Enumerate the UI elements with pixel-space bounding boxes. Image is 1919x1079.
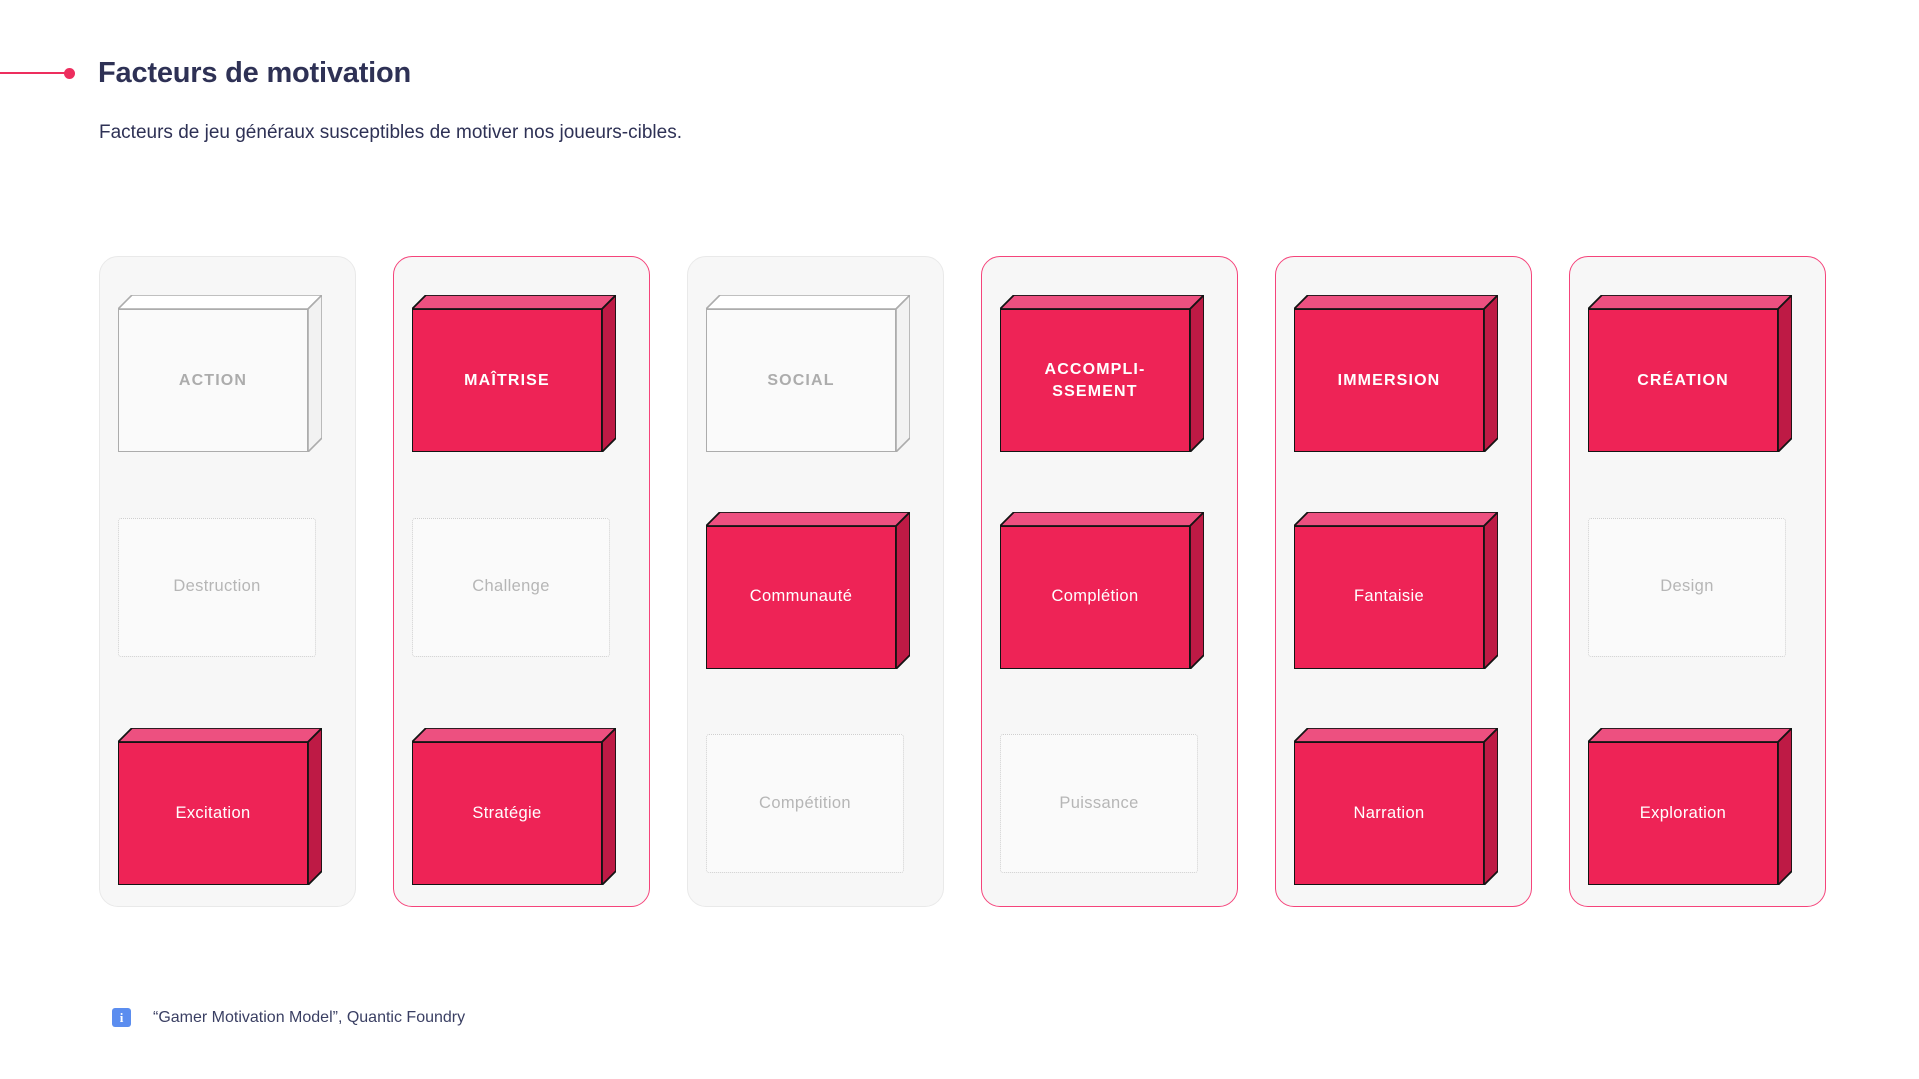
active-3d-box[interactable]: Exploration — [1588, 728, 1794, 885]
active-3d-box[interactable]: Stratégie — [412, 728, 618, 885]
box-front-face: Complétion — [1000, 526, 1190, 669]
motivation-slot-creation-2[interactable]: Exploration — [1588, 714, 1807, 882]
source-credit: i “Gamer Motivation Model”, Quantic Foun… — [112, 1008, 465, 1027]
active-3d-box[interactable]: IMMERSION — [1294, 295, 1500, 452]
box-front-face: ACCOMPLI-SSEMENT — [1000, 309, 1190, 452]
active-3d-box[interactable]: CRÉATION — [1588, 295, 1794, 452]
motivation-slot-maitrise-2[interactable]: Stratégie — [412, 714, 631, 882]
slot-label: Challenge — [466, 576, 555, 598]
slot-label: Puissance — [1053, 793, 1144, 815]
motivation-column-immersion[interactable]: IMMERSION Fantaisie Narration — [1275, 256, 1532, 907]
motivation-column-social[interactable]: SOCIAL CommunautéCompétition — [687, 256, 944, 907]
motivation-slot-accomplissement-1[interactable]: Complétion — [1000, 498, 1219, 666]
motivation-slot-action-0[interactable]: ACTION — [118, 281, 337, 449]
motivation-slot-social-1[interactable]: Communauté — [706, 498, 925, 666]
active-3d-box[interactable]: Communauté — [706, 512, 912, 669]
slot-label: Destruction — [167, 576, 266, 598]
slot-label: Complétion — [1046, 586, 1145, 608]
inactive-placeholder-box[interactable]: Puissance — [1000, 734, 1198, 873]
inactive-placeholder-box[interactable]: Challenge — [412, 518, 610, 657]
motivation-slot-creation-1[interactable]: Design — [1588, 498, 1807, 666]
motivation-column-maitrise[interactable]: MAÎTRISEChallenge Stratégie — [393, 256, 650, 907]
box-front-face: Fantaisie — [1294, 526, 1484, 669]
title-row: Facteurs de motivation — [0, 58, 411, 88]
motivation-slot-maitrise-0[interactable]: MAÎTRISE — [412, 281, 631, 449]
slot-label: Fantaisie — [1348, 586, 1430, 608]
motivation-slot-social-2[interactable]: Compétition — [706, 714, 925, 882]
slot-label: CRÉATION — [1631, 370, 1735, 391]
inactive-placeholder-box[interactable]: Destruction — [118, 518, 316, 657]
box-front-face: Excitation — [118, 742, 308, 885]
box-front-face: Stratégie — [412, 742, 602, 885]
title-rule-decoration — [0, 72, 66, 74]
motivation-slot-immersion-2[interactable]: Narration — [1294, 714, 1513, 882]
slot-label: Stratégie — [466, 803, 547, 825]
inactive-placeholder-box[interactable]: Compétition — [706, 734, 904, 873]
box-front-face: CRÉATION — [1588, 309, 1778, 452]
active-3d-box[interactable]: Fantaisie — [1294, 512, 1500, 669]
active-3d-box[interactable]: MAÎTRISE — [412, 295, 618, 452]
slot-label: Excitation — [169, 803, 256, 825]
page-title: Facteurs de motivation — [98, 57, 411, 90]
motivation-column-creation[interactable]: CRÉATIONDesign Exploration — [1569, 256, 1826, 907]
motivation-column-accomplissement[interactable]: ACCOMPLI-SSEMENT ComplétionPuissance — [981, 256, 1238, 907]
info-icon: i — [112, 1008, 131, 1027]
slot-label: MAÎTRISE — [458, 370, 556, 391]
motivation-slot-social-0[interactable]: SOCIAL — [706, 281, 925, 449]
motivation-slot-accomplissement-0[interactable]: ACCOMPLI-SSEMENT — [1000, 281, 1219, 449]
box-front-face: SOCIAL — [706, 309, 896, 452]
box-front-face: Narration — [1294, 742, 1484, 885]
active-3d-box[interactable]: Complétion — [1000, 512, 1206, 669]
source-credit-label: “Gamer Motivation Model”, Quantic Foundr… — [153, 1009, 465, 1027]
motivation-slot-creation-0[interactable]: CRÉATION — [1588, 281, 1807, 449]
motivation-slot-immersion-0[interactable]: IMMERSION — [1294, 281, 1513, 449]
inactive-3d-box[interactable]: ACTION — [118, 295, 324, 452]
box-front-face: Exploration — [1588, 742, 1778, 885]
slot-label: Narration — [1347, 803, 1430, 825]
motivation-slot-accomplissement-2[interactable]: Puissance — [1000, 714, 1219, 882]
box-front-face: Communauté — [706, 526, 896, 669]
inactive-3d-box[interactable]: SOCIAL — [706, 295, 912, 452]
active-3d-box[interactable]: ACCOMPLI-SSEMENT — [1000, 295, 1206, 452]
slot-label: ACCOMPLI-SSEMENT — [1038, 359, 1151, 401]
slot-label: Communauté — [744, 586, 859, 608]
slot-label: IMMERSION — [1332, 370, 1447, 391]
slot-label: ACTION — [173, 370, 253, 391]
inactive-placeholder-box[interactable]: Design — [1588, 518, 1786, 657]
motivation-columns: ACTIONDestruction Excitation MAÎTRISECha… — [99, 256, 1826, 907]
title-dot-decoration — [64, 68, 75, 79]
box-front-face: MAÎTRISE — [412, 309, 602, 452]
slot-label: Design — [1654, 576, 1719, 598]
slot-label: Compétition — [753, 793, 857, 815]
active-3d-box[interactable]: Excitation — [118, 728, 324, 885]
slot-label: Exploration — [1634, 803, 1732, 825]
active-3d-box[interactable]: Narration — [1294, 728, 1500, 885]
box-front-face: IMMERSION — [1294, 309, 1484, 452]
motivation-slot-maitrise-1[interactable]: Challenge — [412, 498, 631, 666]
box-front-face: ACTION — [118, 309, 308, 452]
motivation-column-action[interactable]: ACTIONDestruction Excitation — [99, 256, 356, 907]
motivation-slot-action-2[interactable]: Excitation — [118, 714, 337, 882]
page-subtitle: Facteurs de jeu généraux susceptibles de… — [99, 122, 682, 144]
motivation-slot-immersion-1[interactable]: Fantaisie — [1294, 498, 1513, 666]
slot-label: SOCIAL — [761, 370, 840, 391]
motivation-slot-action-1[interactable]: Destruction — [118, 498, 337, 666]
